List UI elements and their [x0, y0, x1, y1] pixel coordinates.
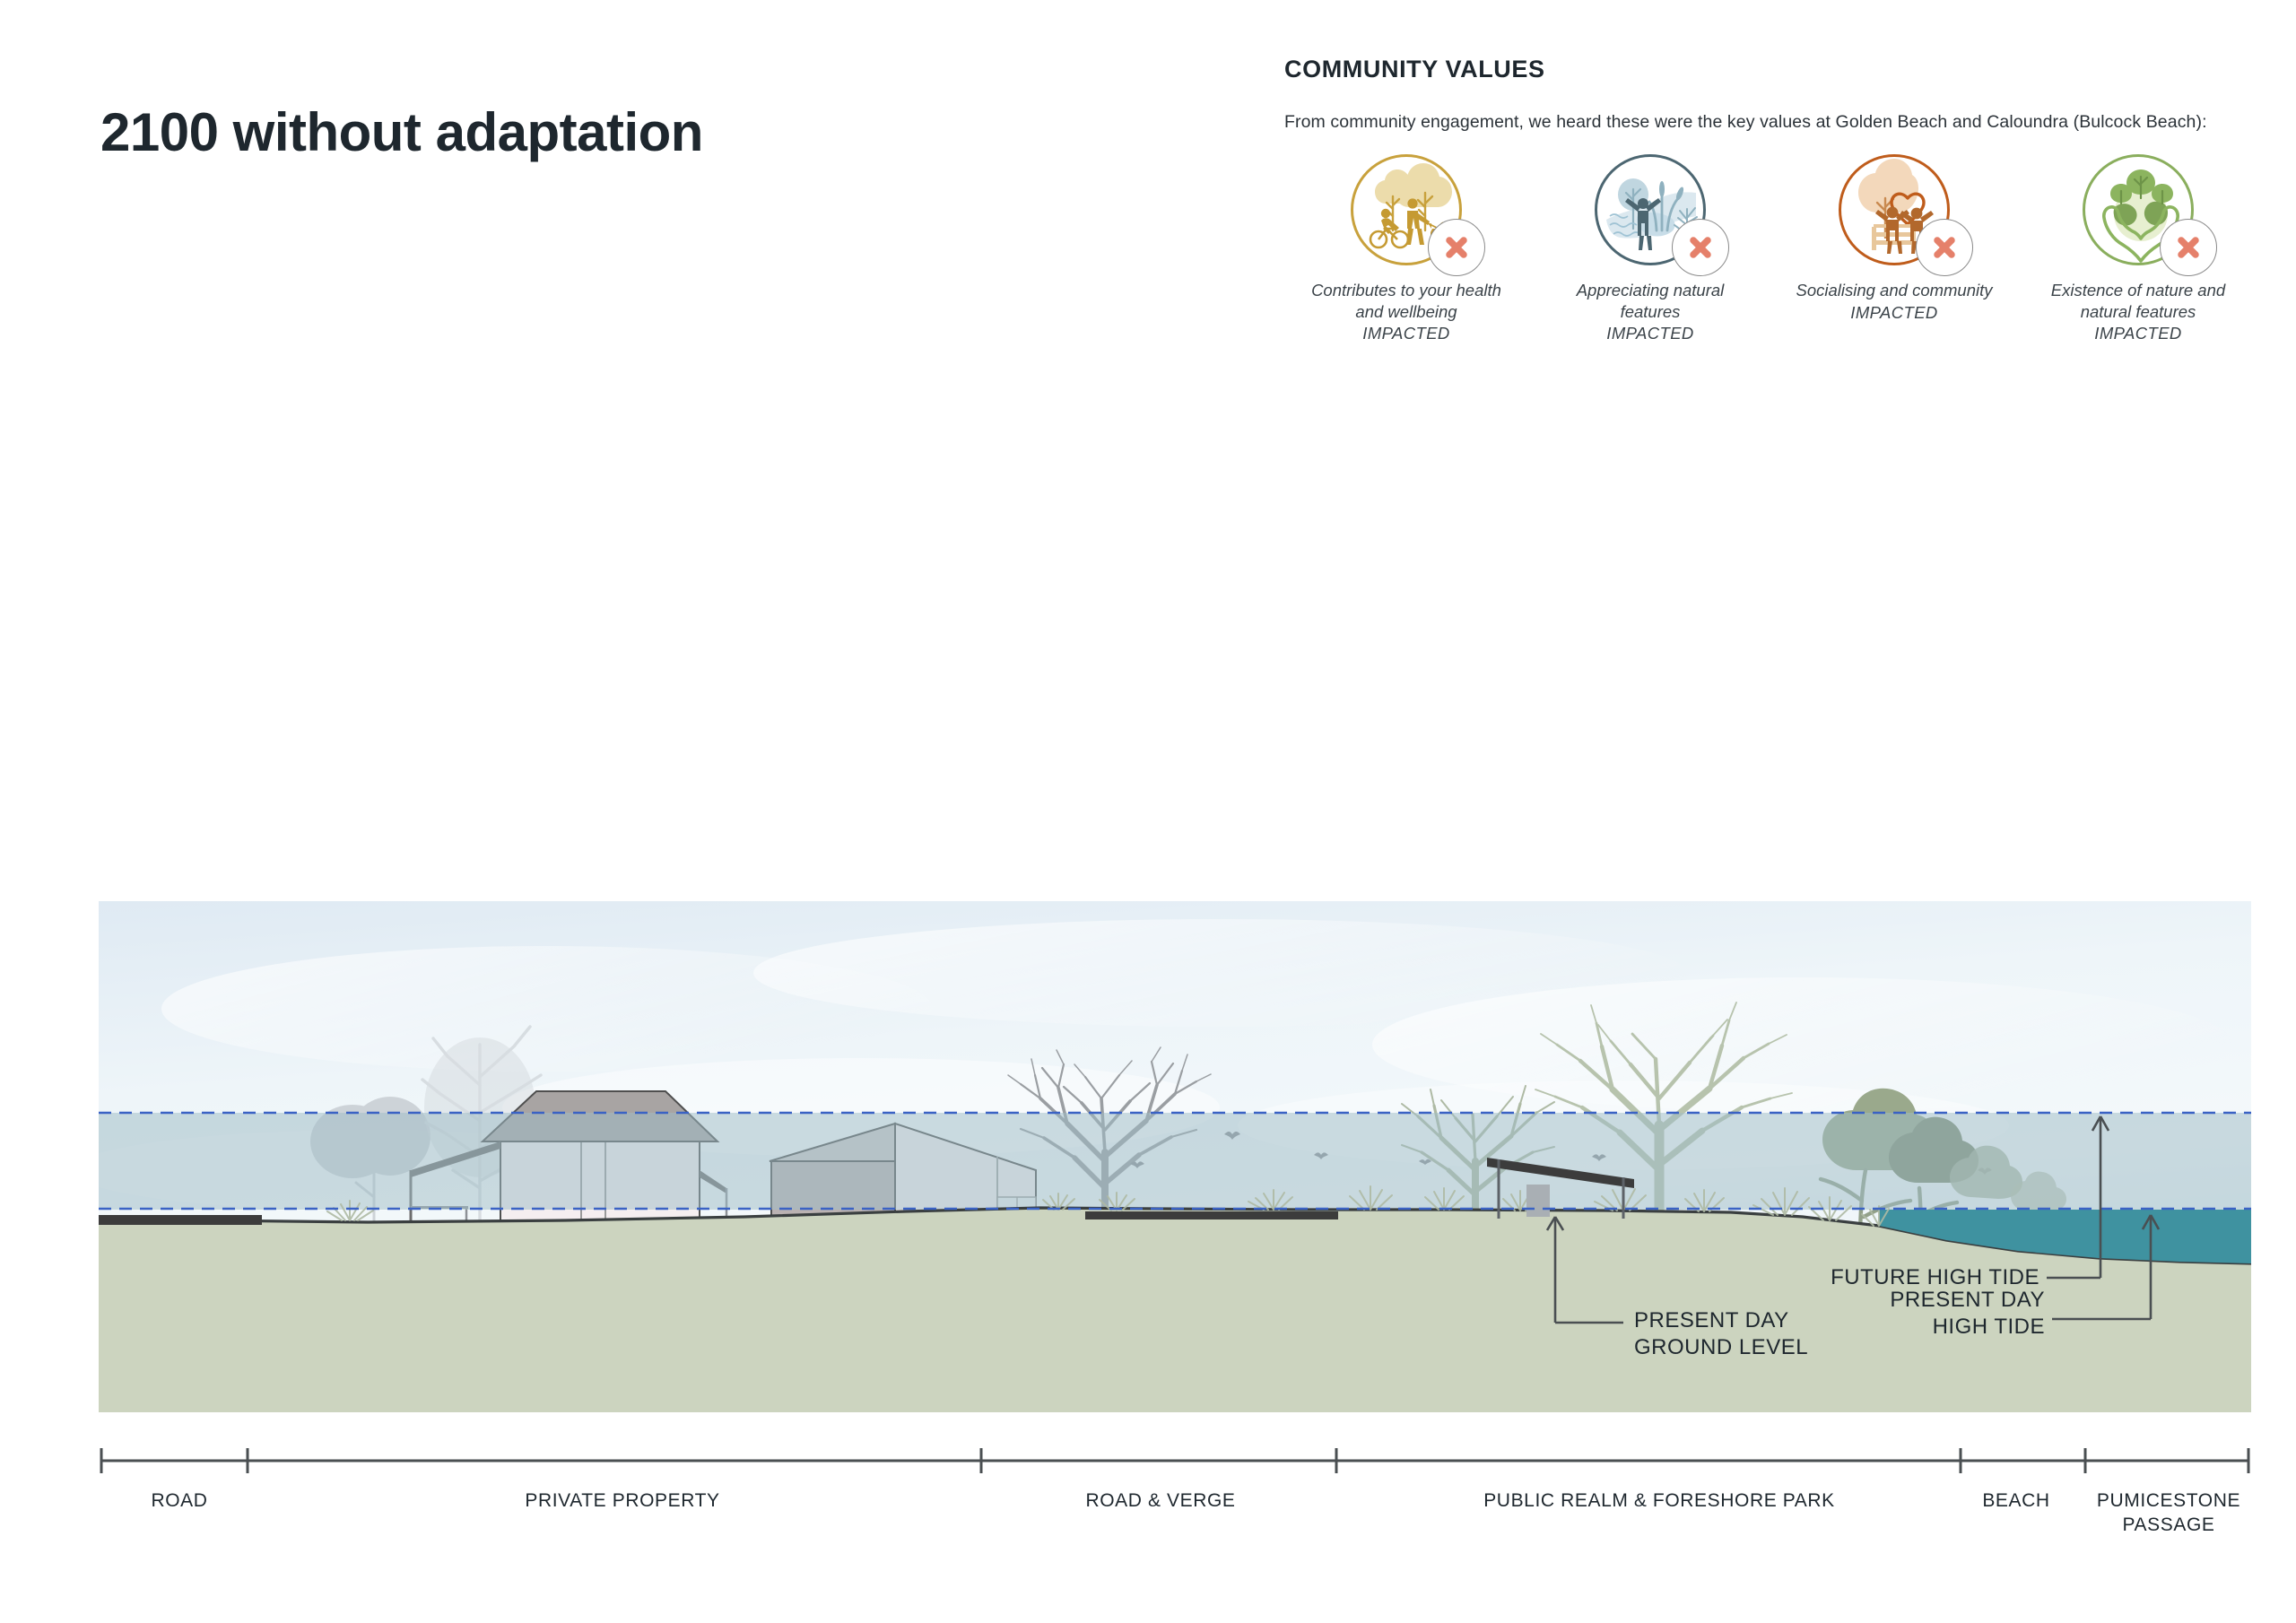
cross-icon — [1428, 219, 1485, 276]
community-values-panel: COMMUNITY VALUES From community engageme… — [1284, 56, 2262, 344]
zone-label-road-verge: ROAD & VERGE — [1085, 1488, 1235, 1513]
community-value-status: IMPACTED — [2094, 323, 2181, 344]
zone-label-private-property: PRIVATE PROPERTY — [525, 1488, 719, 1513]
community-value-item-natural-features: Appreciating natural features IMPACTED — [1528, 154, 1772, 344]
community-value-status: IMPACTED — [1362, 323, 1449, 344]
community-value-status: IMPACTED — [1606, 323, 1693, 344]
community-value-status: IMPACTED — [1850, 302, 1937, 324]
scale-zone-labels: ROAD PRIVATE PROPERTY ROAD & VERGE PUBLI… — [0, 1488, 2296, 1560]
page-title: 2100 without adaptation — [100, 106, 703, 160]
zone-label-beach: BEACH — [1982, 1488, 2049, 1513]
scale-ruler — [99, 1445, 2251, 1476]
road-left — [99, 1215, 262, 1225]
community-value-badge — [2083, 154, 2194, 265]
community-value-item-socialising: Socialising and community IMPACTED — [1772, 154, 2016, 344]
community-value-caption: Appreciating natural features — [1547, 280, 1753, 322]
cross-icon — [1916, 219, 1973, 276]
community-value-caption: Socialising and community — [1791, 280, 1997, 301]
cross-icon — [1672, 219, 1729, 276]
community-value-badge — [1839, 154, 1950, 265]
coastal-section-illustration: PRESENT DAY GROUND LEVEL FUTURE HIGH TID… — [99, 901, 2251, 1412]
park-bin — [1526, 1185, 1550, 1217]
community-values-list: Contributes to your health and wellbeing… — [1284, 154, 2262, 344]
cross-icon — [2160, 219, 2217, 276]
community-value-caption: Contributes to your health and wellbeing — [1303, 280, 1509, 322]
community-values-intro: From community engagement, we heard thes… — [1284, 112, 2262, 133]
community-value-badge — [1595, 154, 1706, 265]
annotation-label-ground-line1: PRESENT DAY — [1634, 1308, 1789, 1332]
community-value-badge — [1351, 154, 1462, 265]
annotation-label-present-tide-line1: PRESENT DAY — [1890, 1288, 2045, 1312]
zone-label-pumicestone-passage: PUMICESTONE PASSAGE — [2079, 1488, 2258, 1538]
community-value-item-existence-nature: Existence of nature and natural features… — [2016, 154, 2260, 344]
annotation-label-present-tide-line2: HIGH TIDE — [1933, 1315, 2045, 1339]
zone-label-road: ROAD — [151, 1488, 207, 1513]
future-high-tide-water — [99, 1113, 2251, 1210]
zone-label-public-realm: PUBLIC REALM & FORESHORE PARK — [1483, 1488, 1835, 1513]
annotation-label-future-high-tide: FUTURE HIGH TIDE — [1831, 1265, 2039, 1289]
community-value-item-health-wellbeing: Contributes to your health and wellbeing… — [1284, 154, 1528, 344]
annotation-label-ground-line2: GROUND LEVEL — [1634, 1335, 1808, 1359]
community-values-heading: COMMUNITY VALUES — [1284, 56, 2262, 83]
road-verge — [1085, 1211, 1338, 1219]
community-value-caption: Existence of nature and natural features — [2035, 280, 2241, 322]
